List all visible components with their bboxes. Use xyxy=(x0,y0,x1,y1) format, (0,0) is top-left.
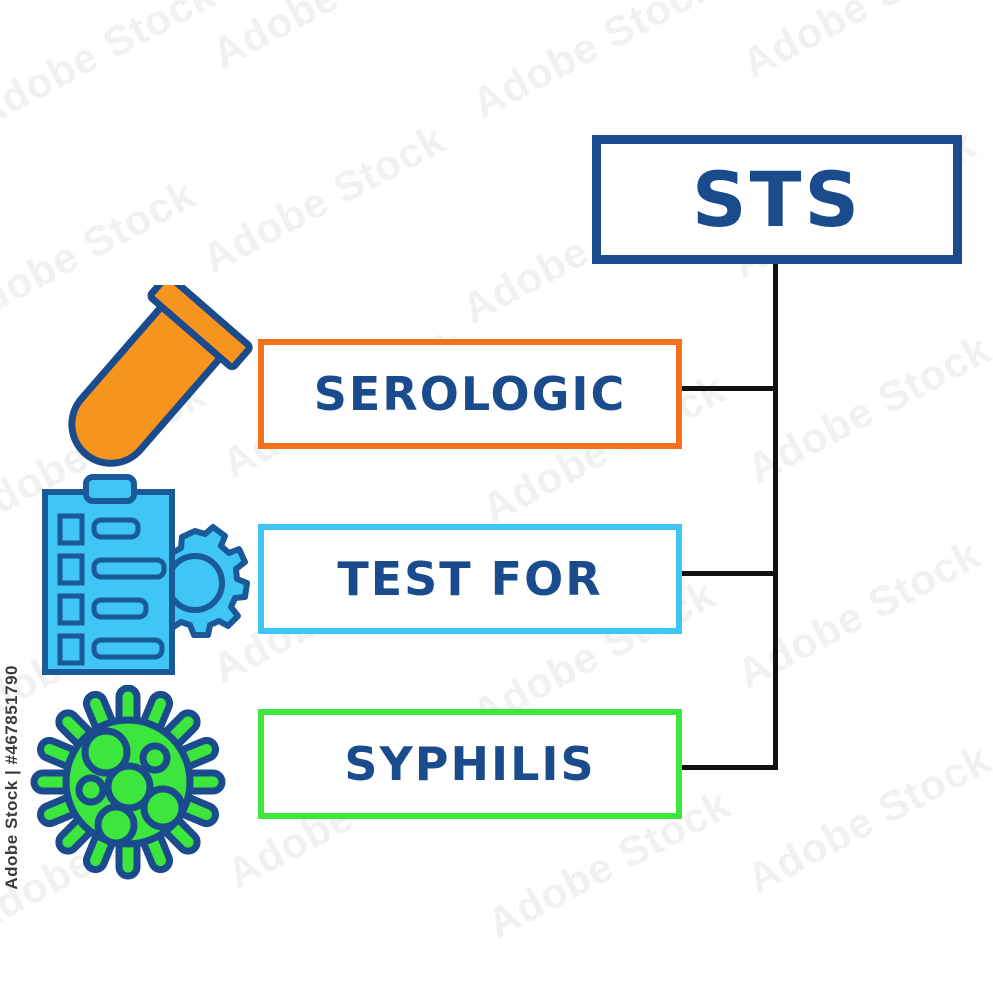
expansion-label-serologic: SEROLOGIC xyxy=(264,371,676,417)
watermark-credit: Adobe Stock | #467851790 xyxy=(2,665,22,890)
expansion-box-serologic[interactable]: SEROLOGIC xyxy=(258,339,682,449)
expansion-label-syphilis: SYPHILIS xyxy=(264,741,676,787)
watermark-tile: Adobe Stock xyxy=(204,0,463,78)
watermark-tile: Adobe Stock xyxy=(734,0,993,88)
connector-branch-syphilis xyxy=(677,765,778,770)
virus-icon xyxy=(28,685,243,880)
diagram-canvas: Adobe Stock Adobe Stock Adobe Stock Adob… xyxy=(0,0,993,1000)
connector-branch-test-for xyxy=(677,571,777,576)
watermark-tile: Adobe Stock xyxy=(194,115,453,283)
watermark-tile: Adobe Stock xyxy=(0,0,223,138)
test-tube-icon xyxy=(38,285,253,485)
acronym-box-sts[interactable]: STS xyxy=(592,135,962,264)
watermark-tile: Adobe Stock xyxy=(729,530,988,698)
expansion-label-test-for: TEST FOR xyxy=(264,556,676,602)
clipboard-gear-icon xyxy=(28,470,263,685)
connector-branch-serologic xyxy=(677,386,777,391)
acronym-label: STS xyxy=(601,162,953,238)
expansion-box-syphilis[interactable]: SYPHILIS xyxy=(258,709,682,819)
expansion-box-test-for[interactable]: TEST FOR xyxy=(258,524,682,634)
connector-trunk xyxy=(773,262,778,770)
watermark-tile: Adobe Stock xyxy=(464,0,723,128)
